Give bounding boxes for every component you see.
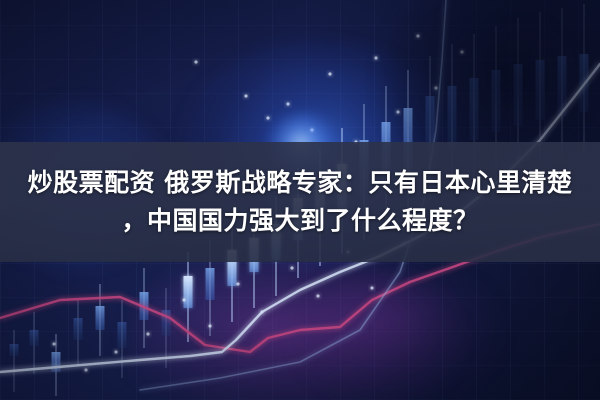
headline-line-2: ，中国国力强大到了什么程度？: [121, 202, 478, 240]
article-cover-image: 炒股票配资 俄罗斯战略专家：只有日本心里清楚 ，中国国力强大到了什么程度？: [0, 0, 600, 400]
headline-band: 炒股票配资 俄罗斯战略专家：只有日本心里清楚 ，中国国力强大到了什么程度？: [0, 142, 600, 262]
headline-line-1: 炒股票配资 俄罗斯战略专家：只有日本心里清楚: [28, 164, 573, 202]
